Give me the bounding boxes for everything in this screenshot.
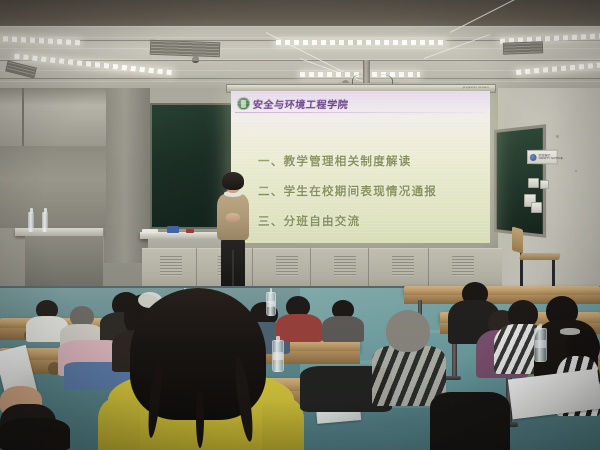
left-wall-panel [0, 146, 106, 228]
slide-agenda-item: 三、分班自由交流 [258, 213, 484, 229]
attendee-glasses-on-head [560, 328, 580, 335]
light-switch[interactable] [528, 178, 539, 188]
desk-object-blue [167, 226, 179, 233]
plaque-line-2: SAFETY NOTICE [539, 157, 563, 161]
water-bottle [534, 328, 547, 362]
light-switch[interactable] [540, 180, 549, 189]
power-outlet[interactable] [531, 202, 542, 213]
smoke-detector-icon [192, 56, 199, 63]
attendee-hair-strand [196, 390, 204, 448]
desk-paper [142, 229, 158, 233]
attendee-body [0, 418, 70, 450]
air-vent [503, 41, 543, 54]
water-bottle [42, 212, 48, 232]
bench-desk [404, 286, 600, 295]
institution-logo-icon [530, 153, 537, 160]
chair-back [512, 226, 523, 253]
water-bottle [266, 292, 276, 316]
slide-agenda-item: 一、教学管理相关制度解读 [258, 153, 484, 169]
attendee-sleeve-left [98, 398, 140, 450]
desk-foot [444, 376, 461, 380]
projection-screen: 安全与环境工程学院 一、教学管理相关制度解读 二、学生在校期间表现情况通报 三、… [231, 91, 490, 243]
air-vent [150, 40, 220, 57]
ceiling-light [276, 40, 446, 45]
attendee-body [322, 316, 364, 342]
slide-header: 安全与环境工程学院 [237, 96, 348, 111]
attendee-body [430, 392, 510, 450]
presenter-hands [226, 213, 240, 222]
attendee-body [276, 314, 322, 342]
upper-cabinet-panel [0, 88, 106, 148]
attendee-sleeve-right [262, 398, 304, 450]
slide-organization-name: 安全与环境工程学院 [252, 96, 349, 111]
college-seal-icon [237, 97, 250, 110]
water-bottle [28, 212, 34, 232]
presenter-legs [221, 238, 245, 292]
screen-brand-label: projector screen [463, 85, 489, 89]
slide-divider [235, 112, 485, 113]
wall-notice-plaque: 安全提示 SAFETY NOTICE [527, 150, 558, 165]
slide-agenda-item: 二、学生在校期间表现情况通报 [258, 183, 484, 199]
desk-object-red [186, 229, 194, 233]
attendee-head [386, 310, 430, 352]
water-bottle [272, 340, 284, 372]
classroom-photo: 安全提示 SAFETY NOTICE projector screen 安全与环… [0, 0, 600, 450]
presenter-hair [222, 172, 244, 190]
slide-agenda-list: 一、教学管理相关制度解读 二、学生在校期间表现情况通报 三、分班自由交流 [258, 153, 484, 243]
chair-seat [519, 253, 561, 260]
